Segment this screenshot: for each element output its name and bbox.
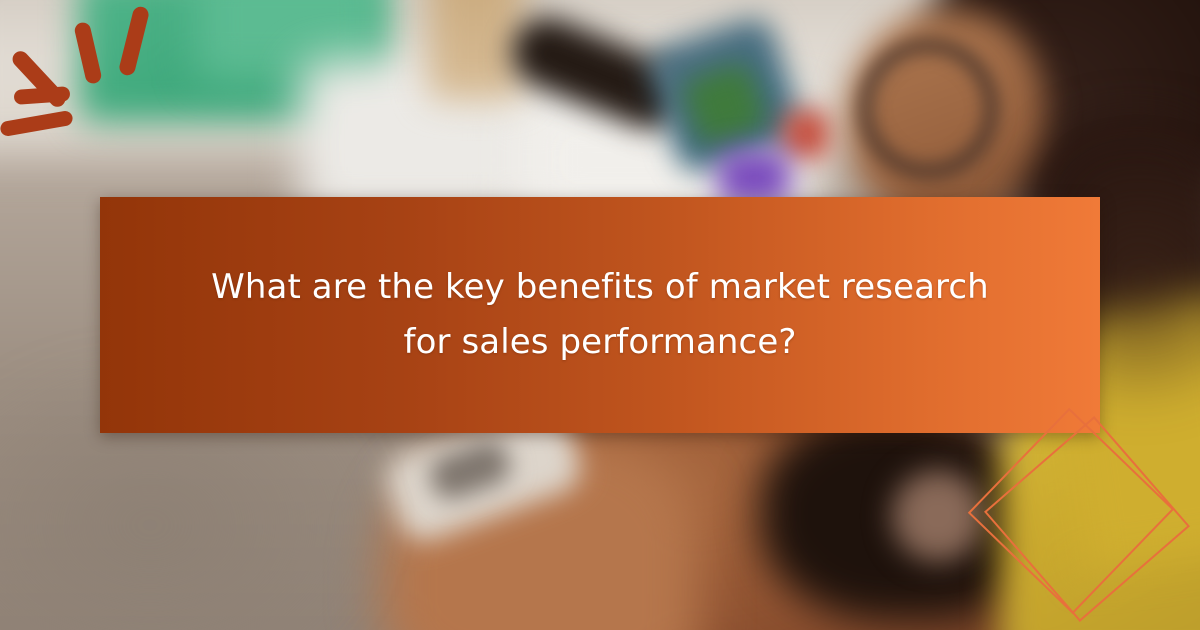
page-title: What are the key benefits of market rese… bbox=[100, 260, 1100, 370]
rotated-square-2 bbox=[984, 416, 1190, 622]
sparkle-dash-5 bbox=[0, 110, 74, 137]
page-title-line-1: What are the key benefits of market rese… bbox=[211, 267, 989, 307]
sparkle-dash-1 bbox=[118, 5, 150, 77]
headline-banner: What are the key benefits of market rese… bbox=[100, 197, 1100, 433]
bg-cup bbox=[428, 0, 524, 100]
sparkle-burst-icon bbox=[0, 0, 200, 170]
bg-red-object bbox=[782, 110, 830, 158]
rotated-squares-icon bbox=[970, 420, 1200, 630]
bg-glasses bbox=[860, 40, 997, 177]
page-title-line-2: for sales performance? bbox=[404, 322, 797, 362]
social-card: What are the key benefits of market rese… bbox=[0, 0, 1200, 630]
sparkle-dash-2 bbox=[73, 21, 103, 85]
